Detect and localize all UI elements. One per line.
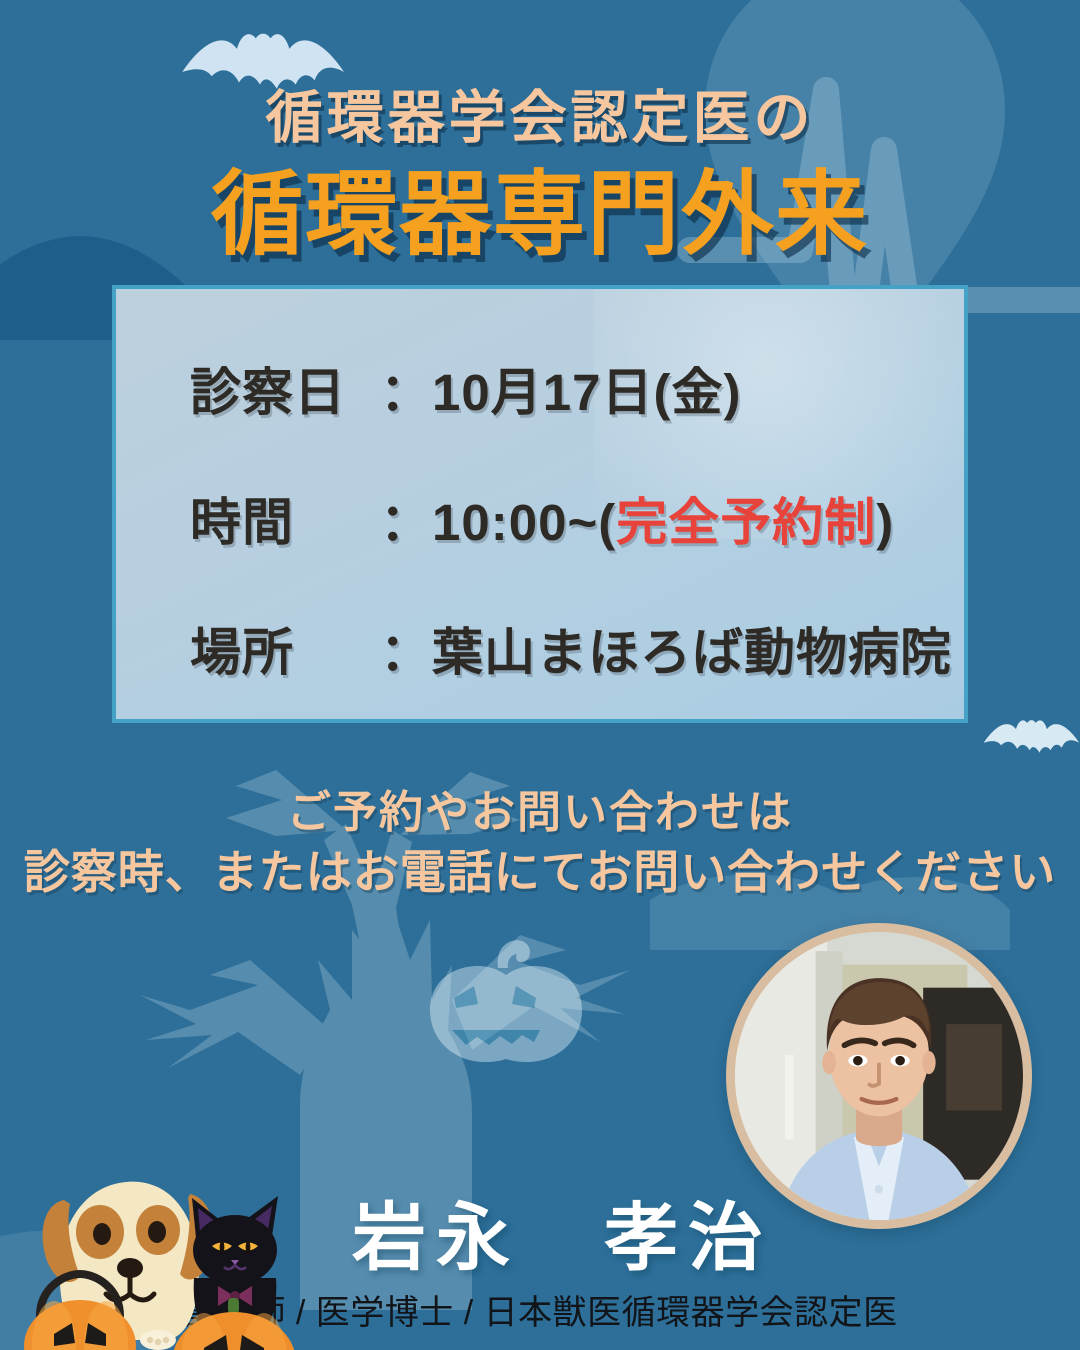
time-value: 10:00~( [432, 493, 616, 552]
hanging-jack-o-lantern-icon [430, 940, 582, 1062]
poster-title: 循環器専門外来 [0, 140, 1080, 273]
place-label: 場所 [190, 611, 380, 685]
date-value: 10月17日(金) [432, 351, 741, 425]
info-panel: 診察日 ： 10月17日(金) 時間 ： 10:00~( 完全予約制 ) 場所 … [112, 285, 968, 723]
date-label: 診察日 [190, 351, 380, 425]
reservation-required-badge: 完全予約制 [616, 481, 876, 555]
time-label: 時間 [190, 481, 380, 555]
info-rows: 診察日 ： 10月17日(金) 時間 ： 10:00~( 完全予約制 ) 場所 … [190, 351, 944, 685]
info-row-time: 時間 ： 10:00~( 完全予約制 ) [190, 481, 944, 555]
contact-line-2: 診察時、またはお電話にてお問い合わせください [0, 836, 1080, 902]
place-separator: ： [380, 611, 432, 685]
contact-line-1: ご予約やお問い合わせは [0, 776, 1080, 840]
poster-canvas: 循環器学会認定医の 循環器専門外来 診察日 ： 10月17日(金) 時間 ： 1… [0, 0, 1080, 1350]
bat-icon [984, 720, 1079, 753]
info-row-date: 診察日 ： 10月17日(金) [190, 351, 944, 425]
place-value: 葉山まほろば動物病院 [432, 611, 952, 685]
avatar-illustration [735, 932, 1023, 1220]
doctor-name: 岩永 孝治 [352, 1178, 772, 1285]
date-separator: ： [380, 351, 432, 425]
info-row-place: 場所 ： 葉山まほろば動物病院 [190, 611, 944, 685]
doctor-credentials: 獣医師 / 医学博士 / 日本獣医循環器学会認定医 [0, 1285, 1080, 1334]
time-separator: ： [380, 481, 432, 555]
time-value-tail: ) [876, 493, 894, 552]
